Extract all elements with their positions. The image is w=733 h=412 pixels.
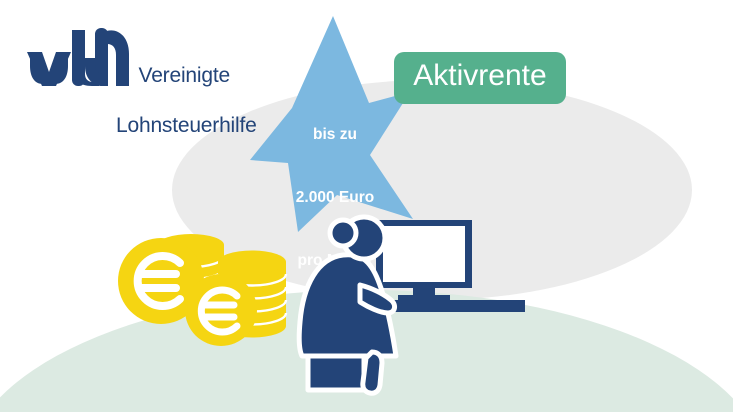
infographic-canvas: Vereinigte Lohnsteuerhilfe bis zu 2.000 …	[0, 0, 733, 412]
celebrating-figure-layer	[0, 0, 733, 412]
